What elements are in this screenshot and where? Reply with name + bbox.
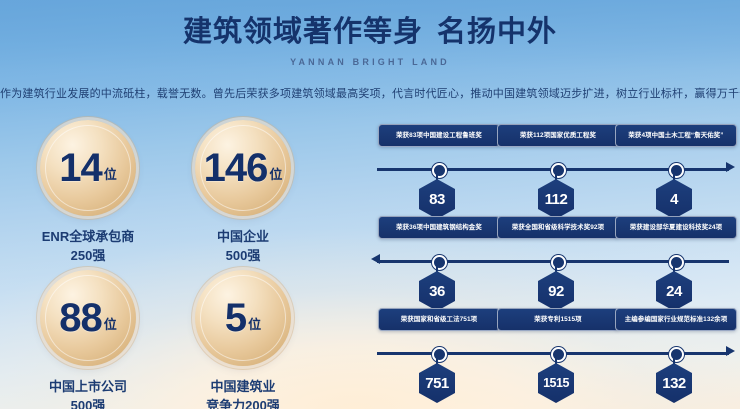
award-label: 荣获36项中国建筑钢结构金奖 <box>383 223 496 232</box>
award-badge-value: 751 <box>425 376 449 391</box>
stat-caption-line2: 500强 <box>8 396 168 409</box>
stat-item: 88 位 中国上市公司 500强 <box>8 270 168 409</box>
award-badge-value: 36 <box>429 284 445 299</box>
award-badge-value: 83 <box>429 192 445 207</box>
award-label: 荣获全国和省级科学技术奖92项 <box>502 223 615 232</box>
stat-coin: 14 位 <box>40 120 136 216</box>
stat-value: 146 <box>204 148 268 188</box>
header-block: 建筑领域著作等身名扬中外 YANNAN BRIGHT LAND <box>0 14 740 67</box>
stat-item: 146 位 中国企业 500强 <box>163 120 323 265</box>
stat-caption: ENR全球承包商 250强 <box>8 227 168 265</box>
award-card[interactable]: 荣获112项国家优质工程奖 <box>497 124 619 147</box>
stat-caption-line1: ENR全球承包商 <box>42 229 134 244</box>
timeline-node[interactable]: 荣获专利1515项 1515 <box>497 308 615 331</box>
page-subtitle: YANNAN BRIGHT LAND <box>0 57 740 67</box>
stat-caption: 中国企业 500强 <box>163 227 323 265</box>
award-badge: 4 <box>656 179 692 219</box>
timeline-node[interactable]: 主编参编国家行业规范标准132余项 132 <box>615 308 733 331</box>
stat-item: 14 位 ENR全球承包商 250强 <box>8 120 168 265</box>
award-card[interactable]: 荣获83项中国建设工程鲁班奖 <box>378 124 500 147</box>
stat-unit: 位 <box>269 164 282 183</box>
timeline-node[interactable]: 荣获建设部华夏建设科技奖24项 24 <box>615 216 733 239</box>
timeline-node[interactable]: 荣获4项中国土木工程“詹天佑奖” 4 <box>615 124 733 147</box>
award-card[interactable]: 荣获36项中国建筑钢结构金奖 <box>378 216 500 239</box>
award-card[interactable]: 主编参编国家行业规范标准132余项 <box>615 308 737 331</box>
awards-timeline: 荣获83项中国建设工程鲁班奖 83 荣获112项国家优质工程奖 112 <box>372 124 734 396</box>
timeline-dot-icon <box>432 163 447 178</box>
timeline-dot-icon <box>669 255 684 270</box>
stat-caption-line2: 250强 <box>8 246 168 265</box>
timeline-dot-icon <box>432 255 447 270</box>
stat-coin: 88 位 <box>40 270 136 366</box>
stat-value-group: 5 位 <box>225 298 261 338</box>
timeline-dot-icon <box>551 163 566 178</box>
award-badge-value: 112 <box>545 192 568 207</box>
timeline-row: 荣获国家和省级工法751项 751 荣获专利1515项 1515 <box>372 308 734 394</box>
stat-coin: 146 位 <box>195 120 291 216</box>
page-description: 作为建筑行业发展的中流砥柱，载誉无数。曾先后荣获多项建筑领域最高奖项，代言时代匠… <box>0 85 740 101</box>
award-badge-value: 132 <box>662 376 686 391</box>
stat-caption-line2: 500强 <box>163 246 323 265</box>
award-badge: 1515 <box>538 363 574 403</box>
arrow-left-icon <box>371 254 380 264</box>
award-badge: 92 <box>538 271 574 311</box>
award-badge-value: 92 <box>548 284 564 299</box>
award-card[interactable]: 荣获全国和省级科学技术奖92项 <box>497 216 619 239</box>
stat-value-group: 146 位 <box>204 148 283 188</box>
award-badge: 132 <box>656 363 692 403</box>
stat-caption-line2: 竞争力200强 <box>163 396 323 409</box>
award-badge-value: 1515 <box>543 377 569 390</box>
stat-value-group: 14 位 <box>59 148 117 188</box>
timeline-dot-icon <box>432 347 447 362</box>
timeline-row: 荣获83项中国建设工程鲁班奖 83 荣获112项国家优质工程奖 112 <box>372 124 734 210</box>
timeline-dot-icon <box>551 347 566 362</box>
timeline-node[interactable]: 荣获全国和省级科学技术奖92项 92 <box>497 216 615 239</box>
page-title-part1: 建筑领域著作等身 <box>183 16 423 48</box>
award-label: 荣获建设部华夏建设科技奖24项 <box>620 223 733 232</box>
stat-caption: 中国建筑业 竞争力200强 <box>163 377 323 409</box>
page-title-part2: 名扬中外 <box>437 16 557 48</box>
stat-item: 5 位 中国建筑业 竞争力200强 <box>163 270 323 409</box>
stat-unit: 位 <box>104 314 117 333</box>
award-label: 荣获112项国家优质工程奖 <box>502 131 615 140</box>
award-badge: 751 <box>419 363 455 403</box>
award-label: 主编参编国家行业规范标准132余项 <box>620 315 733 324</box>
stat-value: 14 <box>59 148 102 188</box>
timeline-node[interactable]: 荣获112项国家优质工程奖 112 <box>497 124 615 147</box>
stat-value: 5 <box>225 298 246 338</box>
stat-caption: 中国上市公司 500强 <box>8 377 168 409</box>
timeline-row: 荣获36项中国建筑钢结构金奖 36 荣获全国和省级科学技术奖92项 92 <box>372 216 734 302</box>
award-badge: 24 <box>656 271 692 311</box>
award-label: 荣获4项中国土木工程“詹天佑奖” <box>620 131 733 140</box>
award-badge: 112 <box>538 179 574 219</box>
arrow-right-icon <box>726 346 735 356</box>
award-card[interactable]: 荣获4项中国土木工程“詹天佑奖” <box>615 124 737 147</box>
award-label: 荣获专利1515项 <box>502 315 615 324</box>
timeline-dot-icon <box>551 255 566 270</box>
award-card[interactable]: 荣获专利1515项 <box>497 308 619 331</box>
page-title: 建筑领域著作等身名扬中外 <box>0 14 740 50</box>
stat-unit: 位 <box>248 314 261 333</box>
stats-group: 14 位 ENR全球承包商 250强 146 位 中国企业 500强 <box>8 120 338 405</box>
promo-banner: 建筑领域著作等身名扬中外 YANNAN BRIGHT LAND 作为建筑行业发展… <box>0 0 740 409</box>
award-label: 荣获国家和省级工法751项 <box>383 315 496 324</box>
award-badge-value: 24 <box>666 284 682 299</box>
stat-caption-line1: 中国上市公司 <box>49 379 127 394</box>
award-badge-value: 4 <box>670 192 678 207</box>
stat-value: 88 <box>59 298 102 338</box>
stat-caption-line1: 中国建筑业 <box>210 379 275 394</box>
stat-coin: 5 位 <box>195 270 291 366</box>
award-card[interactable]: 荣获建设部华夏建设科技奖24项 <box>615 216 737 239</box>
timeline-node[interactable]: 荣获国家和省级工法751项 751 <box>378 308 496 331</box>
stat-value-group: 88 位 <box>59 298 117 338</box>
award-card[interactable]: 荣获国家和省级工法751项 <box>378 308 500 331</box>
award-badge: 36 <box>419 271 455 311</box>
award-badge: 83 <box>419 179 455 219</box>
timeline-dot-icon <box>669 163 684 178</box>
arrow-right-icon <box>726 162 735 172</box>
timeline-node[interactable]: 荣获36项中国建筑钢结构金奖 36 <box>378 216 496 239</box>
timeline-dot-icon <box>669 347 684 362</box>
stat-caption-line1: 中国企业 <box>217 229 269 244</box>
timeline-node[interactable]: 荣获83项中国建设工程鲁班奖 83 <box>378 124 496 147</box>
stat-unit: 位 <box>104 164 117 183</box>
award-label: 荣获83项中国建设工程鲁班奖 <box>383 131 496 140</box>
